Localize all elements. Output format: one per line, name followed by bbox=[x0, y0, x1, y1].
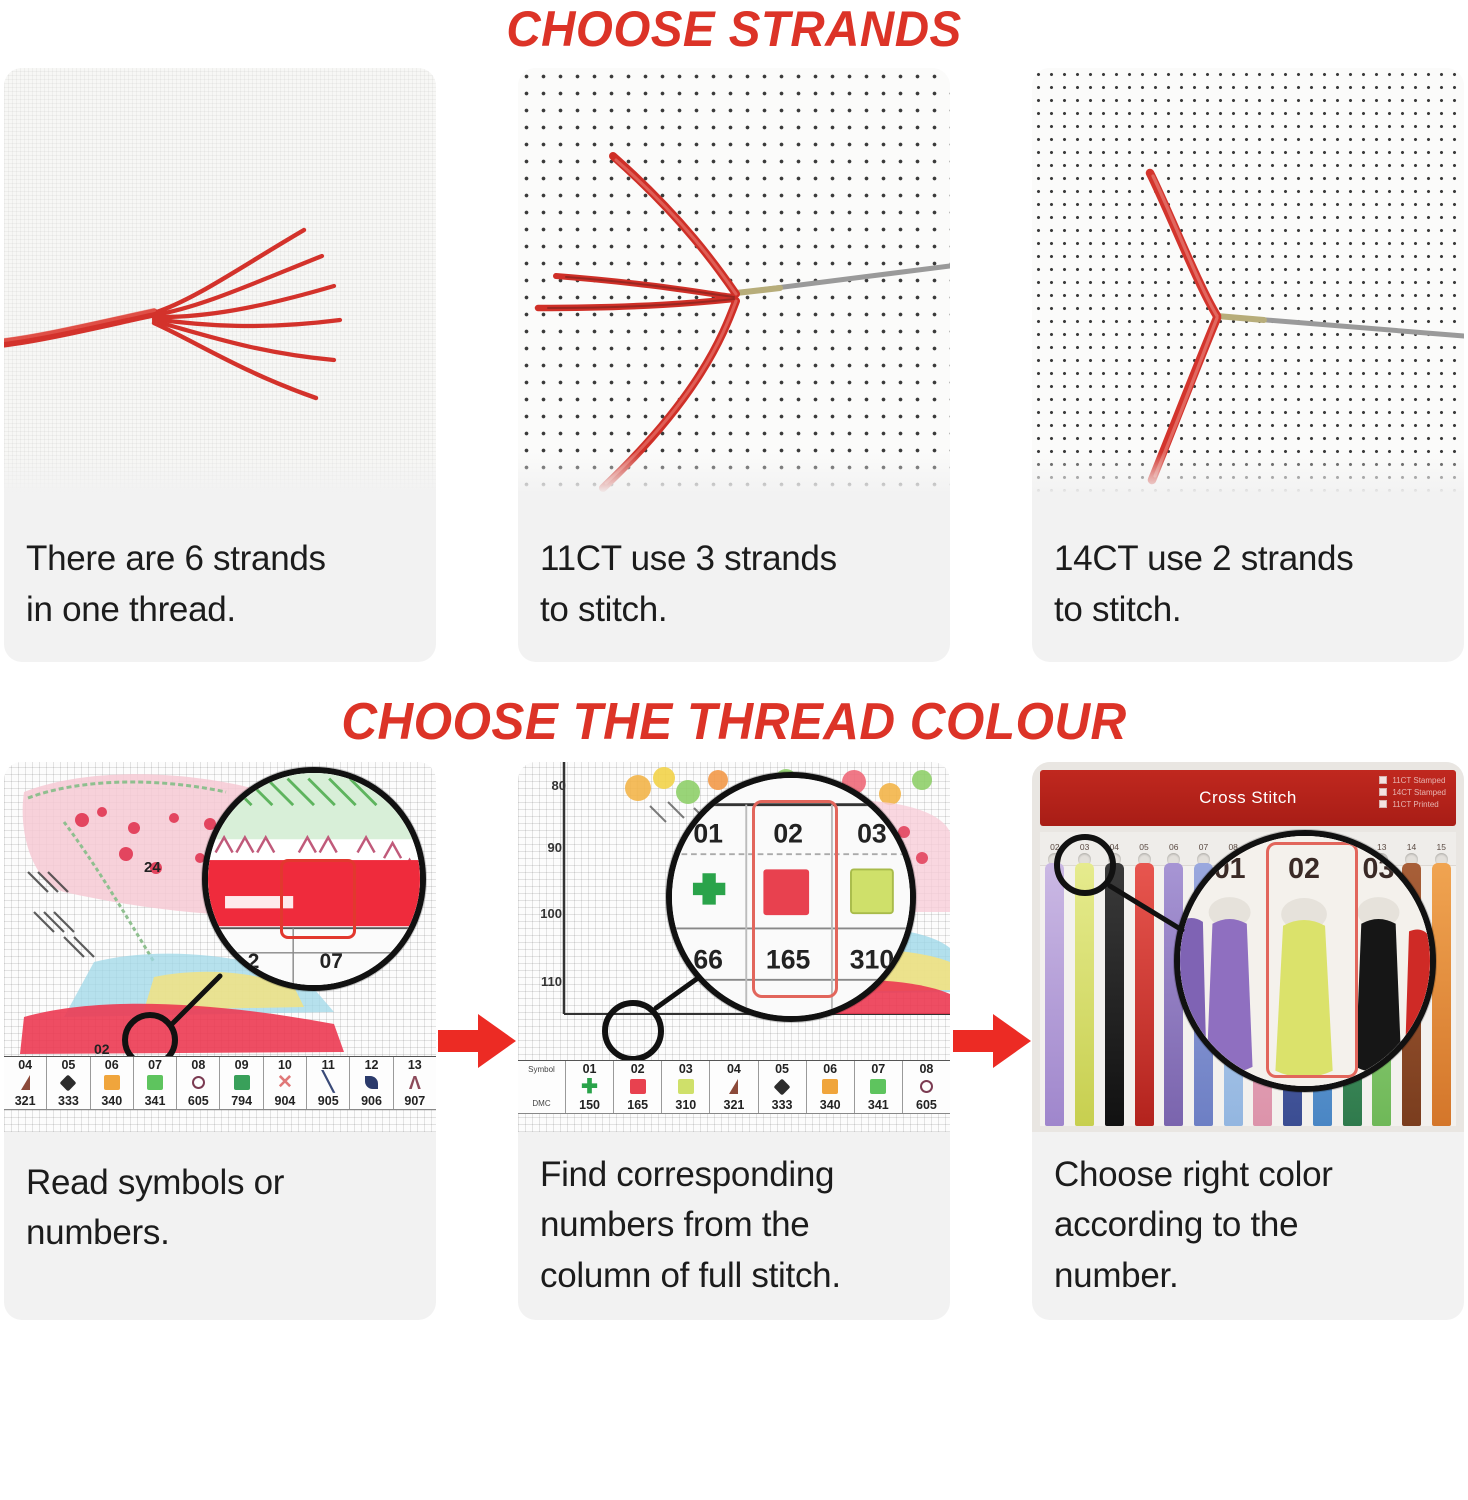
magnifier-circle-key: 01 02 03 66 165 310 bbox=[666, 772, 916, 1022]
dark-green-square-icon bbox=[234, 1072, 250, 1094]
legend-column-number: 08 bbox=[919, 1062, 933, 1076]
floss-bundle bbox=[1135, 863, 1154, 1126]
symbol-legend-table: 04 321 05 333 06 340 07 bbox=[4, 1056, 436, 1110]
svg-text:03: 03 bbox=[1363, 852, 1395, 884]
legend-code: 905 bbox=[318, 1094, 339, 1108]
floss-bundle bbox=[1075, 863, 1094, 1126]
kit-option-label: 11CT Stamped bbox=[1392, 776, 1445, 785]
svg-text:100: 100 bbox=[540, 906, 562, 921]
legend-code: 904 bbox=[275, 1094, 296, 1108]
legend-cell: 11 ╲ 905 bbox=[307, 1057, 350, 1109]
svg-text:03: 03 bbox=[857, 818, 887, 848]
photo-11ct bbox=[518, 68, 950, 508]
legend-code: 321 bbox=[15, 1094, 36, 1108]
photo-fade bbox=[1032, 452, 1464, 508]
legend-cell: 06 340 bbox=[807, 1061, 855, 1113]
green-square-icon bbox=[147, 1072, 163, 1094]
legend-column-number: 07 bbox=[871, 1062, 885, 1076]
legend-cell: 08 605 bbox=[177, 1057, 220, 1109]
legend-cell: 02 165 bbox=[614, 1061, 662, 1113]
svg-text:110: 110 bbox=[541, 974, 562, 989]
caption-line: 14CT use 2 strands bbox=[1054, 534, 1442, 585]
legend-cell: 09 794 bbox=[220, 1057, 263, 1109]
svg-text:01: 01 bbox=[1214, 852, 1246, 884]
legend-symbol-label: Symbol bbox=[528, 1063, 555, 1077]
diamond-icon bbox=[776, 1076, 788, 1098]
ring-icon bbox=[920, 1076, 933, 1098]
legend-cell: 05 333 bbox=[759, 1061, 807, 1113]
kit-options-list: 11CT Stamped 14CT Stamped 11CT Printed bbox=[1379, 776, 1446, 809]
caption-line: numbers. bbox=[26, 1208, 414, 1259]
legend-column-number: 04 bbox=[727, 1062, 741, 1076]
strands-panel-row: There are 6 strands in one thread. bbox=[0, 68, 1468, 662]
caption-line: in one thread. bbox=[26, 585, 414, 636]
magnifier-circle-symbols: 2 07 bbox=[202, 767, 426, 991]
caption-choose-colour: Choose right color according to the numb… bbox=[1032, 1132, 1464, 1320]
checkbox-icon bbox=[1379, 788, 1387, 796]
skein-number: 06 bbox=[1169, 842, 1178, 852]
kit-option: 11CT Stamped bbox=[1379, 776, 1446, 785]
caption-line: Read symbols or bbox=[26, 1158, 414, 1209]
legend-cell: 07 341 bbox=[855, 1061, 903, 1113]
kit-brand-title: Cross Stitch bbox=[1199, 788, 1297, 808]
full-stitch-legend-table: Symbol DMC 01 ✚ 150 02 165 bbox=[518, 1060, 950, 1114]
x-mark-icon: ✕ bbox=[277, 1072, 293, 1094]
legend-column-number: 06 bbox=[105, 1058, 119, 1072]
caption-line: number. bbox=[1054, 1251, 1442, 1302]
photo-pattern-chart: 24 02 bbox=[4, 762, 436, 1132]
caption-line: 11CT use 3 strands bbox=[540, 534, 928, 585]
panel-read-symbols: 24 02 bbox=[4, 762, 436, 1320]
legend-cell: 12 906 bbox=[350, 1057, 393, 1109]
thread-colour-panel-row: 24 02 bbox=[0, 762, 1468, 1320]
yellow-green-square-icon bbox=[678, 1076, 694, 1098]
legend-column-number: 11 bbox=[322, 1058, 335, 1072]
floss-bundle bbox=[1432, 863, 1451, 1126]
magnifier-target-circle bbox=[602, 1000, 664, 1062]
svg-text:02: 02 bbox=[94, 1041, 110, 1057]
legend-code: 333 bbox=[58, 1094, 79, 1108]
caption-line: according to the bbox=[1054, 1200, 1442, 1251]
photo-floss-kit: Cross Stitch 11CT Stamped 14CT Stamped bbox=[1032, 762, 1464, 1132]
legend-code: 165 bbox=[627, 1098, 648, 1112]
svg-text:66: 66 bbox=[693, 944, 723, 974]
caption-14ct: 14CT use 2 strands to stitch. bbox=[1032, 508, 1464, 662]
legend-column-number: 13 bbox=[408, 1058, 422, 1072]
needle-and-three-strands-illustration bbox=[518, 68, 950, 508]
highlight-box bbox=[280, 859, 356, 939]
legend-code: 333 bbox=[772, 1098, 793, 1112]
infographic-page: CHOOSE STRANDS bbox=[0, 0, 1468, 1500]
caption-read-symbols: Read symbols or numbers. bbox=[4, 1132, 436, 1286]
legend-cell: 06 340 bbox=[91, 1057, 134, 1109]
caption-line: column of full stitch. bbox=[540, 1251, 928, 1302]
magnifier-circle-skeins: 01 02 03 bbox=[1174, 830, 1436, 1092]
legend-code: 321 bbox=[724, 1098, 745, 1112]
highlight-box bbox=[1266, 842, 1358, 1078]
legend-column-number: 07 bbox=[148, 1058, 162, 1072]
section-title-choose-strands: CHOOSE STRANDS bbox=[37, 0, 1432, 62]
ring-icon bbox=[192, 1072, 205, 1094]
skein-item: 05 bbox=[1129, 842, 1159, 1126]
legend-column-number: 02 bbox=[631, 1062, 645, 1076]
section-title-choose-the-thread-colour: CHOOSE THE THREAD COLOUR bbox=[37, 688, 1432, 754]
legend-code: 605 bbox=[188, 1094, 209, 1108]
photo-colour-key-chart: 80 90 100 110 bbox=[518, 762, 950, 1132]
svg-text:07: 07 bbox=[320, 949, 343, 972]
caption-line: numbers from the bbox=[540, 1200, 928, 1251]
svg-text:90: 90 bbox=[548, 840, 562, 855]
legend-column-number: 08 bbox=[191, 1058, 205, 1072]
legend-code: 341 bbox=[145, 1094, 166, 1108]
legend-column-number: 05 bbox=[61, 1058, 75, 1072]
panel-11ct-three-strands: 11CT use 3 strands to stitch. bbox=[518, 68, 950, 662]
legend-cell: 03 310 bbox=[662, 1061, 710, 1113]
legend-code: 310 bbox=[675, 1098, 696, 1112]
legend-dmc-label: DMC bbox=[532, 1097, 550, 1111]
svg-text:01: 01 bbox=[693, 818, 723, 848]
legend-cell: 05 333 bbox=[47, 1057, 90, 1109]
caption-line: to stitch. bbox=[1054, 585, 1442, 636]
plus-icon: ✚ bbox=[581, 1076, 598, 1098]
legend-column-number: 10 bbox=[278, 1058, 292, 1072]
legend-cell: 07 341 bbox=[134, 1057, 177, 1109]
green-square-icon bbox=[870, 1076, 886, 1098]
legend-code: 341 bbox=[868, 1098, 889, 1112]
svg-text:2: 2 bbox=[248, 949, 260, 972]
caption-line: to stitch. bbox=[540, 585, 928, 636]
panel-14ct-two-strands: 14CT use 2 strands to stitch. bbox=[1032, 68, 1464, 662]
photo-fade bbox=[4, 452, 436, 508]
svg-text:310: 310 bbox=[850, 944, 894, 974]
diamond-icon bbox=[62, 1072, 74, 1094]
slash-icon: ╲ bbox=[323, 1072, 334, 1094]
legend-cell: 04 321 bbox=[710, 1061, 758, 1113]
legend-column-number: 12 bbox=[365, 1058, 379, 1072]
caption-11ct: 11CT use 3 strands to stitch. bbox=[518, 508, 950, 662]
legend-row-labels: Symbol DMC bbox=[518, 1061, 566, 1113]
needle-and-two-strands-illustration bbox=[1032, 68, 1464, 508]
panel-find-numbers: 80 90 100 110 bbox=[518, 762, 950, 1320]
orange-square-icon bbox=[822, 1076, 838, 1098]
legend-code: 340 bbox=[820, 1098, 841, 1112]
photo-six-strands bbox=[4, 68, 436, 508]
arrow-right-icon bbox=[438, 1010, 516, 1072]
kit-option: 14CT Stamped bbox=[1379, 788, 1446, 797]
legend-column-number: 05 bbox=[775, 1062, 789, 1076]
legend-code: 906 bbox=[361, 1094, 382, 1108]
photo-fade bbox=[518, 452, 950, 508]
kit-header-banner: Cross Stitch 11CT Stamped 14CT Stamped bbox=[1040, 770, 1456, 826]
svg-text:80: 80 bbox=[552, 778, 566, 793]
checkbox-icon bbox=[1379, 776, 1387, 784]
legend-code: 150 bbox=[579, 1098, 600, 1112]
leaf-icon bbox=[365, 1072, 378, 1094]
triangle-icon bbox=[21, 1072, 30, 1094]
legend-code: 340 bbox=[101, 1094, 122, 1108]
caption-six-strands: There are 6 strands in one thread. bbox=[4, 508, 436, 662]
legend-column-number: 01 bbox=[583, 1062, 597, 1076]
legend-code: 907 bbox=[404, 1094, 425, 1108]
legend-code: 794 bbox=[231, 1094, 252, 1108]
caption-line: There are 6 strands bbox=[26, 534, 414, 585]
skein-number: 15 bbox=[1436, 842, 1445, 852]
caret-icon: Λ bbox=[409, 1072, 421, 1094]
svg-text:24: 24 bbox=[144, 859, 161, 876]
legend-column-number: 09 bbox=[235, 1058, 249, 1072]
kit-option: 11CT Printed bbox=[1379, 800, 1446, 809]
legend-cell: 10 ✕ 904 bbox=[264, 1057, 307, 1109]
legend-cell: 01 ✚ 150 bbox=[566, 1061, 614, 1113]
legend-column-number: 06 bbox=[823, 1062, 837, 1076]
floss-six-strands-illustration bbox=[4, 68, 436, 508]
legend-cell: 08 605 bbox=[903, 1061, 950, 1113]
legend-cell: 04 321 bbox=[4, 1057, 47, 1109]
arrow-right-icon bbox=[953, 1010, 1031, 1072]
orange-square-icon bbox=[104, 1072, 120, 1094]
caption-line: Choose right color bbox=[1054, 1150, 1442, 1201]
legend-column-number: 04 bbox=[18, 1058, 32, 1072]
legend-code: 605 bbox=[916, 1098, 937, 1112]
floss-bundle bbox=[1105, 863, 1124, 1126]
red-square-icon bbox=[630, 1076, 646, 1098]
highlight-box bbox=[752, 800, 838, 998]
kit-option-label: 14CT Stamped bbox=[1392, 788, 1446, 797]
legend-column-number: 03 bbox=[679, 1062, 693, 1076]
kit-option-label: 11CT Printed bbox=[1392, 800, 1438, 809]
panel-six-strands: There are 6 strands in one thread. bbox=[4, 68, 436, 662]
triangle-icon bbox=[729, 1076, 738, 1098]
floss-bundle bbox=[1045, 863, 1064, 1126]
checkbox-icon bbox=[1379, 800, 1387, 808]
skein-number: 05 bbox=[1139, 842, 1148, 852]
panel-choose-colour: Cross Stitch 11CT Stamped 14CT Stamped bbox=[1032, 762, 1464, 1320]
legend-cell: 13 Λ 907 bbox=[394, 1057, 436, 1109]
magnifier-target-circle bbox=[1054, 834, 1116, 896]
photo-14ct bbox=[1032, 68, 1464, 508]
caption-find-numbers: Find corresponding numbers from the colu… bbox=[518, 1132, 950, 1320]
caption-line: Find corresponding bbox=[540, 1150, 928, 1201]
